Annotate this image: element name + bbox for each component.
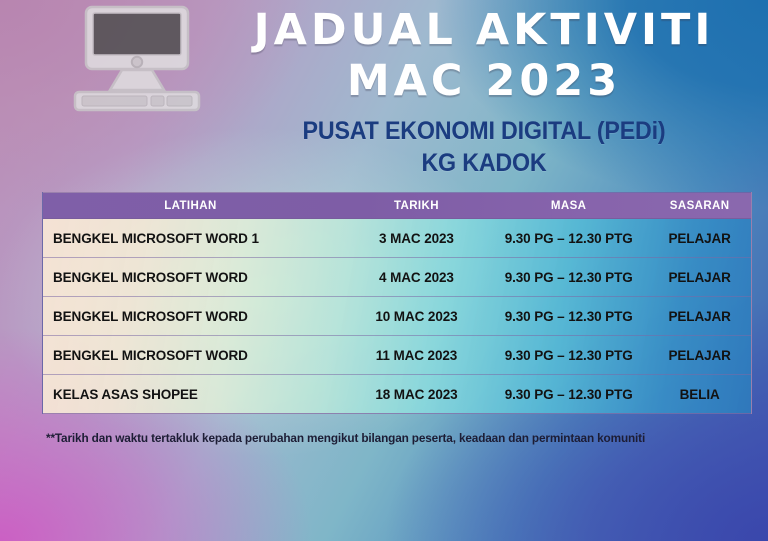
table-header-row: LATIHAN TARIKH MASA SASARAN <box>43 193 751 219</box>
cell-latihan: BENGKEL MICROSOFT WORD <box>43 348 344 363</box>
table-row: BENGKEL MICROSOFT WORD 1 3 MAC 2023 9.30… <box>43 219 751 258</box>
poster-title-line-1: JADUAL AKTIVITI <box>210 6 758 55</box>
cell-tarikh: 18 MAC 2023 <box>344 387 489 402</box>
cell-sasaran: PELAJAR <box>648 270 751 285</box>
desktop-computer-icon <box>72 4 202 112</box>
poster-subtitle-line-1: PUSAT EKONOMI DIGITAL (PEDi) <box>229 116 739 146</box>
table-row: BENGKEL MICROSOFT WORD 10 MAC 2023 9.30 … <box>43 297 751 336</box>
cell-tarikh: 10 MAC 2023 <box>344 309 489 324</box>
title-block: JADUAL AKTIVITI MAC 2023 PUSAT EKONOMI D… <box>210 0 758 178</box>
poster-header: JADUAL AKTIVITI MAC 2023 PUSAT EKONOMI D… <box>0 0 768 186</box>
cell-masa: 9.30 PG – 12.30 PTG <box>489 309 648 324</box>
table-row: BENGKEL MICROSOFT WORD 11 MAC 2023 9.30 … <box>43 336 751 375</box>
column-header-latihan: LATIHAN <box>43 200 344 212</box>
cell-latihan: BENGKEL MICROSOFT WORD <box>43 270 344 285</box>
column-header-tarikh: TARIKH <box>344 200 489 212</box>
cell-masa: 9.30 PG – 12.30 PTG <box>489 387 648 402</box>
cell-latihan: BENGKEL MICROSOFT WORD 1 <box>43 231 344 246</box>
cell-masa: 9.30 PG – 12.30 PTG <box>489 348 648 363</box>
poster-canvas: JADUAL AKTIVITI MAC 2023 PUSAT EKONOMI D… <box>0 0 768 541</box>
cell-latihan: BENGKEL MICROSOFT WORD <box>43 309 344 324</box>
column-header-sasaran: SASARAN <box>648 200 751 212</box>
table-row: KELAS ASAS SHOPEE 18 MAC 2023 9.30 PG – … <box>43 375 751 414</box>
cell-sasaran: BELIA <box>648 387 751 402</box>
poster-title-line-2: MAC 2023 <box>210 57 758 106</box>
column-header-masa: MASA <box>489 200 648 212</box>
schedule-footnote: **Tarikh dan waktu tertakluk kepada peru… <box>46 431 746 445</box>
poster-subtitle-line-2: KG KADOK <box>229 148 739 178</box>
cell-sasaran: PELAJAR <box>648 309 751 324</box>
table-row: BENGKEL MICROSOFT WORD 4 MAC 2023 9.30 P… <box>43 258 751 297</box>
cell-sasaran: PELAJAR <box>648 348 751 363</box>
activity-schedule-table: LATIHAN TARIKH MASA SASARAN BENGKEL MICR… <box>42 192 752 414</box>
cell-masa: 9.30 PG – 12.30 PTG <box>489 231 648 246</box>
cell-latihan: KELAS ASAS SHOPEE <box>43 387 344 402</box>
cell-tarikh: 3 MAC 2023 <box>344 231 489 246</box>
cell-tarikh: 4 MAC 2023 <box>344 270 489 285</box>
cell-masa: 9.30 PG – 12.30 PTG <box>489 270 648 285</box>
cell-sasaran: PELAJAR <box>648 231 751 246</box>
cell-tarikh: 11 MAC 2023 <box>344 348 489 363</box>
